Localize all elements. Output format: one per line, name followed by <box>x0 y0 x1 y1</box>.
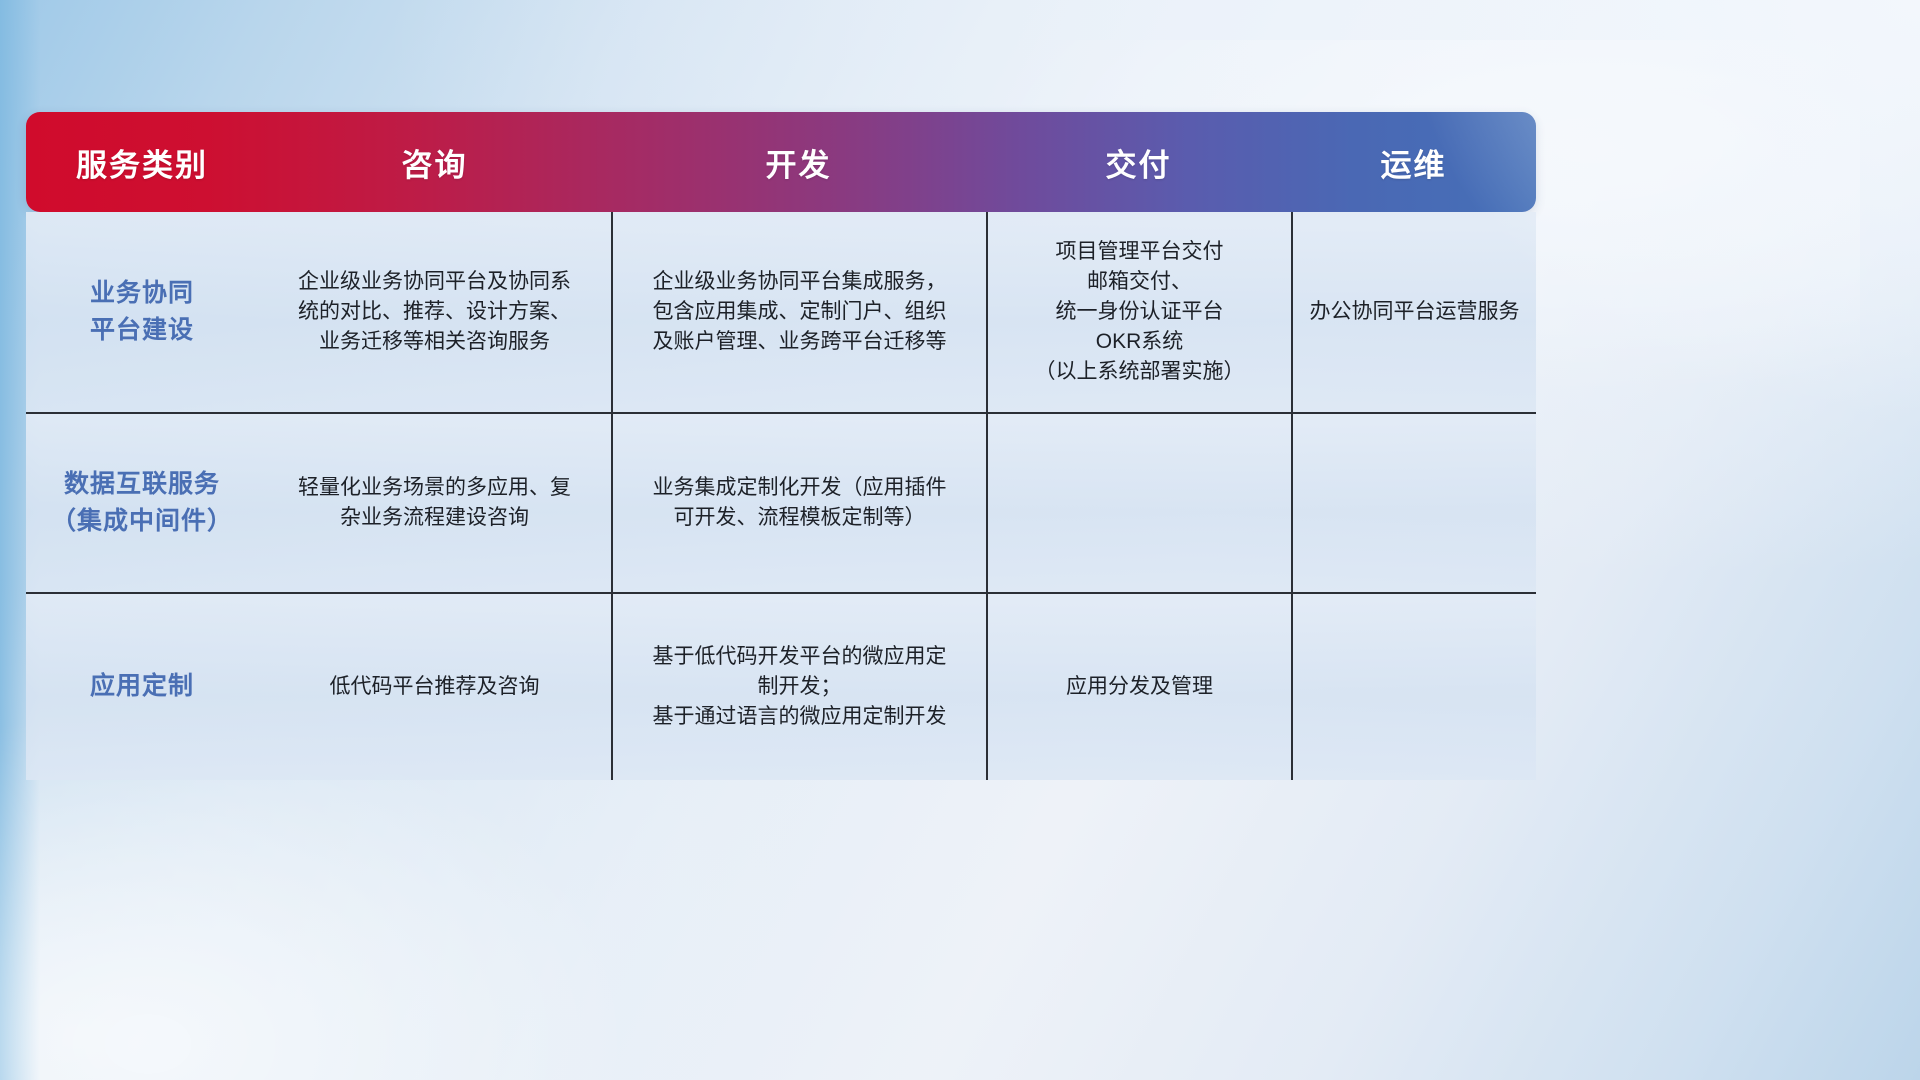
cell-consulting: 低代码平台推荐及咨询 <box>258 594 611 780</box>
row-category-label: 数据互联服务 （集成中间件） <box>26 414 258 592</box>
service-matrix-table: 服务类别 咨询 开发 交付 运维 业务协同 平台建设 企业级业务协同平台及协同系… <box>26 112 1536 780</box>
column-header-operations: 运维 <box>1291 112 1536 212</box>
table-row: 业务协同 平台建设 企业级业务协同平台及协同系 统的对比、推荐、设计方案、 业务… <box>26 212 1536 414</box>
row-category-label: 应用定制 <box>26 594 258 780</box>
cell-development: 业务集成定制化开发（应用插件 可开发、流程模板定制等） <box>611 414 986 592</box>
cell-delivery: 项目管理平台交付 邮箱交付、 统一身份认证平台 OKR系统 （以上系统部署实施） <box>986 212 1291 412</box>
row-category-label: 业务协同 平台建设 <box>26 212 258 412</box>
cell-operations <box>1291 594 1536 780</box>
cell-delivery: 应用分发及管理 <box>986 594 1291 780</box>
slide-canvas: 服务类别 咨询 开发 交付 运维 业务协同 平台建设 企业级业务协同平台及协同系… <box>0 0 1920 1080</box>
column-header-category: 服务类别 <box>26 112 258 212</box>
table-row: 数据互联服务 （集成中间件） 轻量化业务场景的多应用、复 杂业务流程建设咨询 业… <box>26 414 1536 594</box>
column-header-delivery: 交付 <box>986 112 1291 212</box>
cell-delivery <box>986 414 1291 592</box>
table-body: 业务协同 平台建设 企业级业务协同平台及协同系 统的对比、推荐、设计方案、 业务… <box>26 212 1536 780</box>
cell-consulting: 企业级业务协同平台及协同系 统的对比、推荐、设计方案、 业务迁移等相关咨询服务 <box>258 212 611 412</box>
cell-consulting: 轻量化业务场景的多应用、复 杂业务流程建设咨询 <box>258 414 611 592</box>
cell-development: 企业级业务协同平台集成服务， 包含应用集成、定制门户、组织 及账户管理、业务跨平… <box>611 212 986 412</box>
cell-operations: 办公协同平台运营服务 <box>1291 212 1536 412</box>
table-header-row: 服务类别 咨询 开发 交付 运维 <box>26 112 1536 212</box>
cell-development: 基于低代码开发平台的微应用定 制开发； 基于通过语言的微应用定制开发 <box>611 594 986 780</box>
column-header-development: 开发 <box>611 112 986 212</box>
column-header-consulting: 咨询 <box>258 112 611 212</box>
cell-operations <box>1291 414 1536 592</box>
table-row: 应用定制 低代码平台推荐及咨询 基于低代码开发平台的微应用定 制开发； 基于通过… <box>26 594 1536 780</box>
